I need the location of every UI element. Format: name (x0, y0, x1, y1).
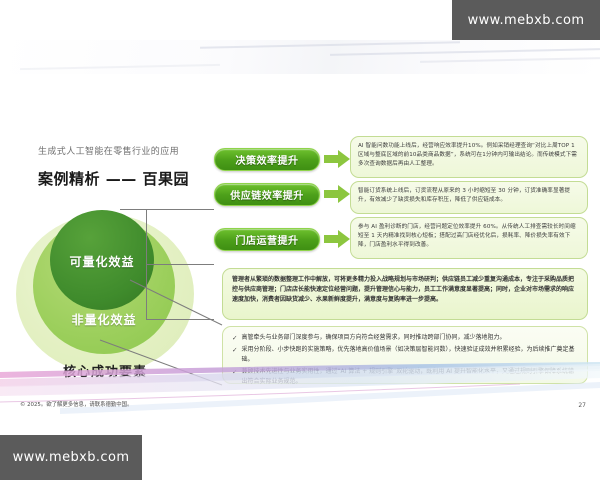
pill-store-operations[interactable]: 门店运营提升 (214, 228, 320, 251)
decorative-top-band (0, 40, 600, 74)
slide-kicker: 生成式人工智能在零售行业的应用 (38, 144, 179, 157)
pill-decision-efficiency[interactable]: 决策效率提升 (214, 148, 320, 171)
list-item-label: 高管牵头与业务部门深度参与，确保项目方向符合经营需求，同时推动跨部门协同，减少落… (241, 333, 505, 343)
page-title: 案例精析 —— 百果园 (38, 168, 189, 189)
page-number: 27 (578, 402, 586, 409)
infobox-store-operations: 参与 AI 盈利诊断的门店，经营问题定位效率提升 60%。从传统人工排查需较长时… (350, 217, 588, 259)
connector-branch-3 (146, 319, 214, 320)
slide-canvas: 生成式人工智能在零售行业的应用 案例精析 —— 百果园 可量化效益 非量化效益 … (0, 40, 600, 420)
arrow-right-icon-1 (324, 150, 350, 168)
check-icon: ✓ (232, 345, 237, 356)
check-icon: ✓ (232, 333, 237, 344)
arrow-right-icon-2 (324, 185, 350, 203)
infobox-decision-efficiency: AI 智能问数功能上线后，经营响应效率提升10%。例如采销经理查询“对比上周TO… (350, 136, 588, 178)
copyright-text: © 2025。欲了解更多信息，请联系德勤中国。 (20, 400, 132, 408)
connector-branch-2 (146, 264, 214, 265)
watermark-bottom: www.mebxb.com (0, 435, 142, 480)
venn-label-quantifiable: 可量化效益 (50, 253, 154, 270)
wide-box-non-quantifiable: 管理者从繁琐的数据整理工作中解放，可将更多精力投入战略规划与市场研判；供应链员工… (222, 268, 588, 320)
pill-supply-chain-efficiency[interactable]: 供应链效率提升 (214, 183, 320, 206)
arrow-right-icon-3 (324, 230, 350, 248)
connector-branch-1 (146, 209, 214, 210)
connector-inner-to-trunk (120, 209, 146, 210)
list-item: ✓ 高管牵头与业务部门深度参与，确保项目方向符合经营需求，同时推动跨部门协同，减… (232, 333, 578, 344)
decorative-bottom-ribbons (0, 362, 600, 420)
venn-diagram: 可量化效益 非量化效益 核心成功要素 (16, 206, 206, 381)
infobox-supply-chain: 智能订货系统上线后，订货流程从原来的 3 小时缩短至 30 分钟，订货准确率显著… (350, 181, 588, 214)
watermark-top: www.mebxb.com (452, 0, 600, 40)
